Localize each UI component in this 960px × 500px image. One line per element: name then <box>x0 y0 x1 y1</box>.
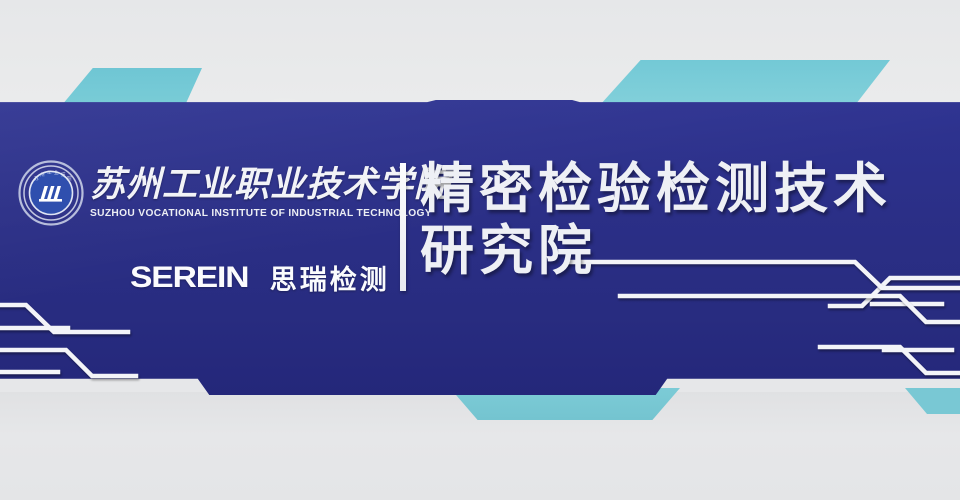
partner-brand-lockup: SEREIN 思瑞检测 <box>130 258 390 297</box>
page-title: 精密检验检测技术 研究院 <box>420 158 950 282</box>
university-name-cn: 苏州工业职业技术学院 <box>90 165 450 205</box>
suzhou-institute-emblem-icon: 苏州工 业技院 <box>18 160 84 226</box>
svg-text:工: 工 <box>47 170 52 175</box>
svg-text:技: 技 <box>61 171 66 178</box>
svg-text:业: 业 <box>54 169 59 175</box>
teal-panel-top-right <box>600 60 890 105</box>
vertical-divider <box>400 163 406 291</box>
signage-scene: 苏州工 业技院 苏州工业职业技术学院 SUZHOU VOCATIONAL INS… <box>0 0 960 500</box>
partner-brand-en: SEREIN <box>130 261 248 295</box>
branding-block: 苏州工 业技院 苏州工业职业技术学院 SUZHOU VOCATIONAL INS… <box>18 160 396 295</box>
page-title-line-2: 研究院 <box>420 220 950 282</box>
university-name-group: 苏州工业职业技术学院 SUZHOU VOCATIONAL INSTITUTE O… <box>90 165 450 221</box>
svg-text:苏: 苏 <box>34 175 39 182</box>
page-title-line-1: 精密检验检测技术 <box>420 158 950 220</box>
partner-brand-cn: 思瑞检测 <box>270 258 390 297</box>
university-identity: 苏州工 业技院 苏州工业职业技术学院 SUZHOU VOCATIONAL INS… <box>18 160 450 226</box>
svg-text:院: 院 <box>67 175 72 182</box>
university-name-en: SUZHOU VOCATIONAL INSTITUTE OF INDUSTRIA… <box>90 207 450 221</box>
svg-text:州: 州 <box>40 172 45 177</box>
